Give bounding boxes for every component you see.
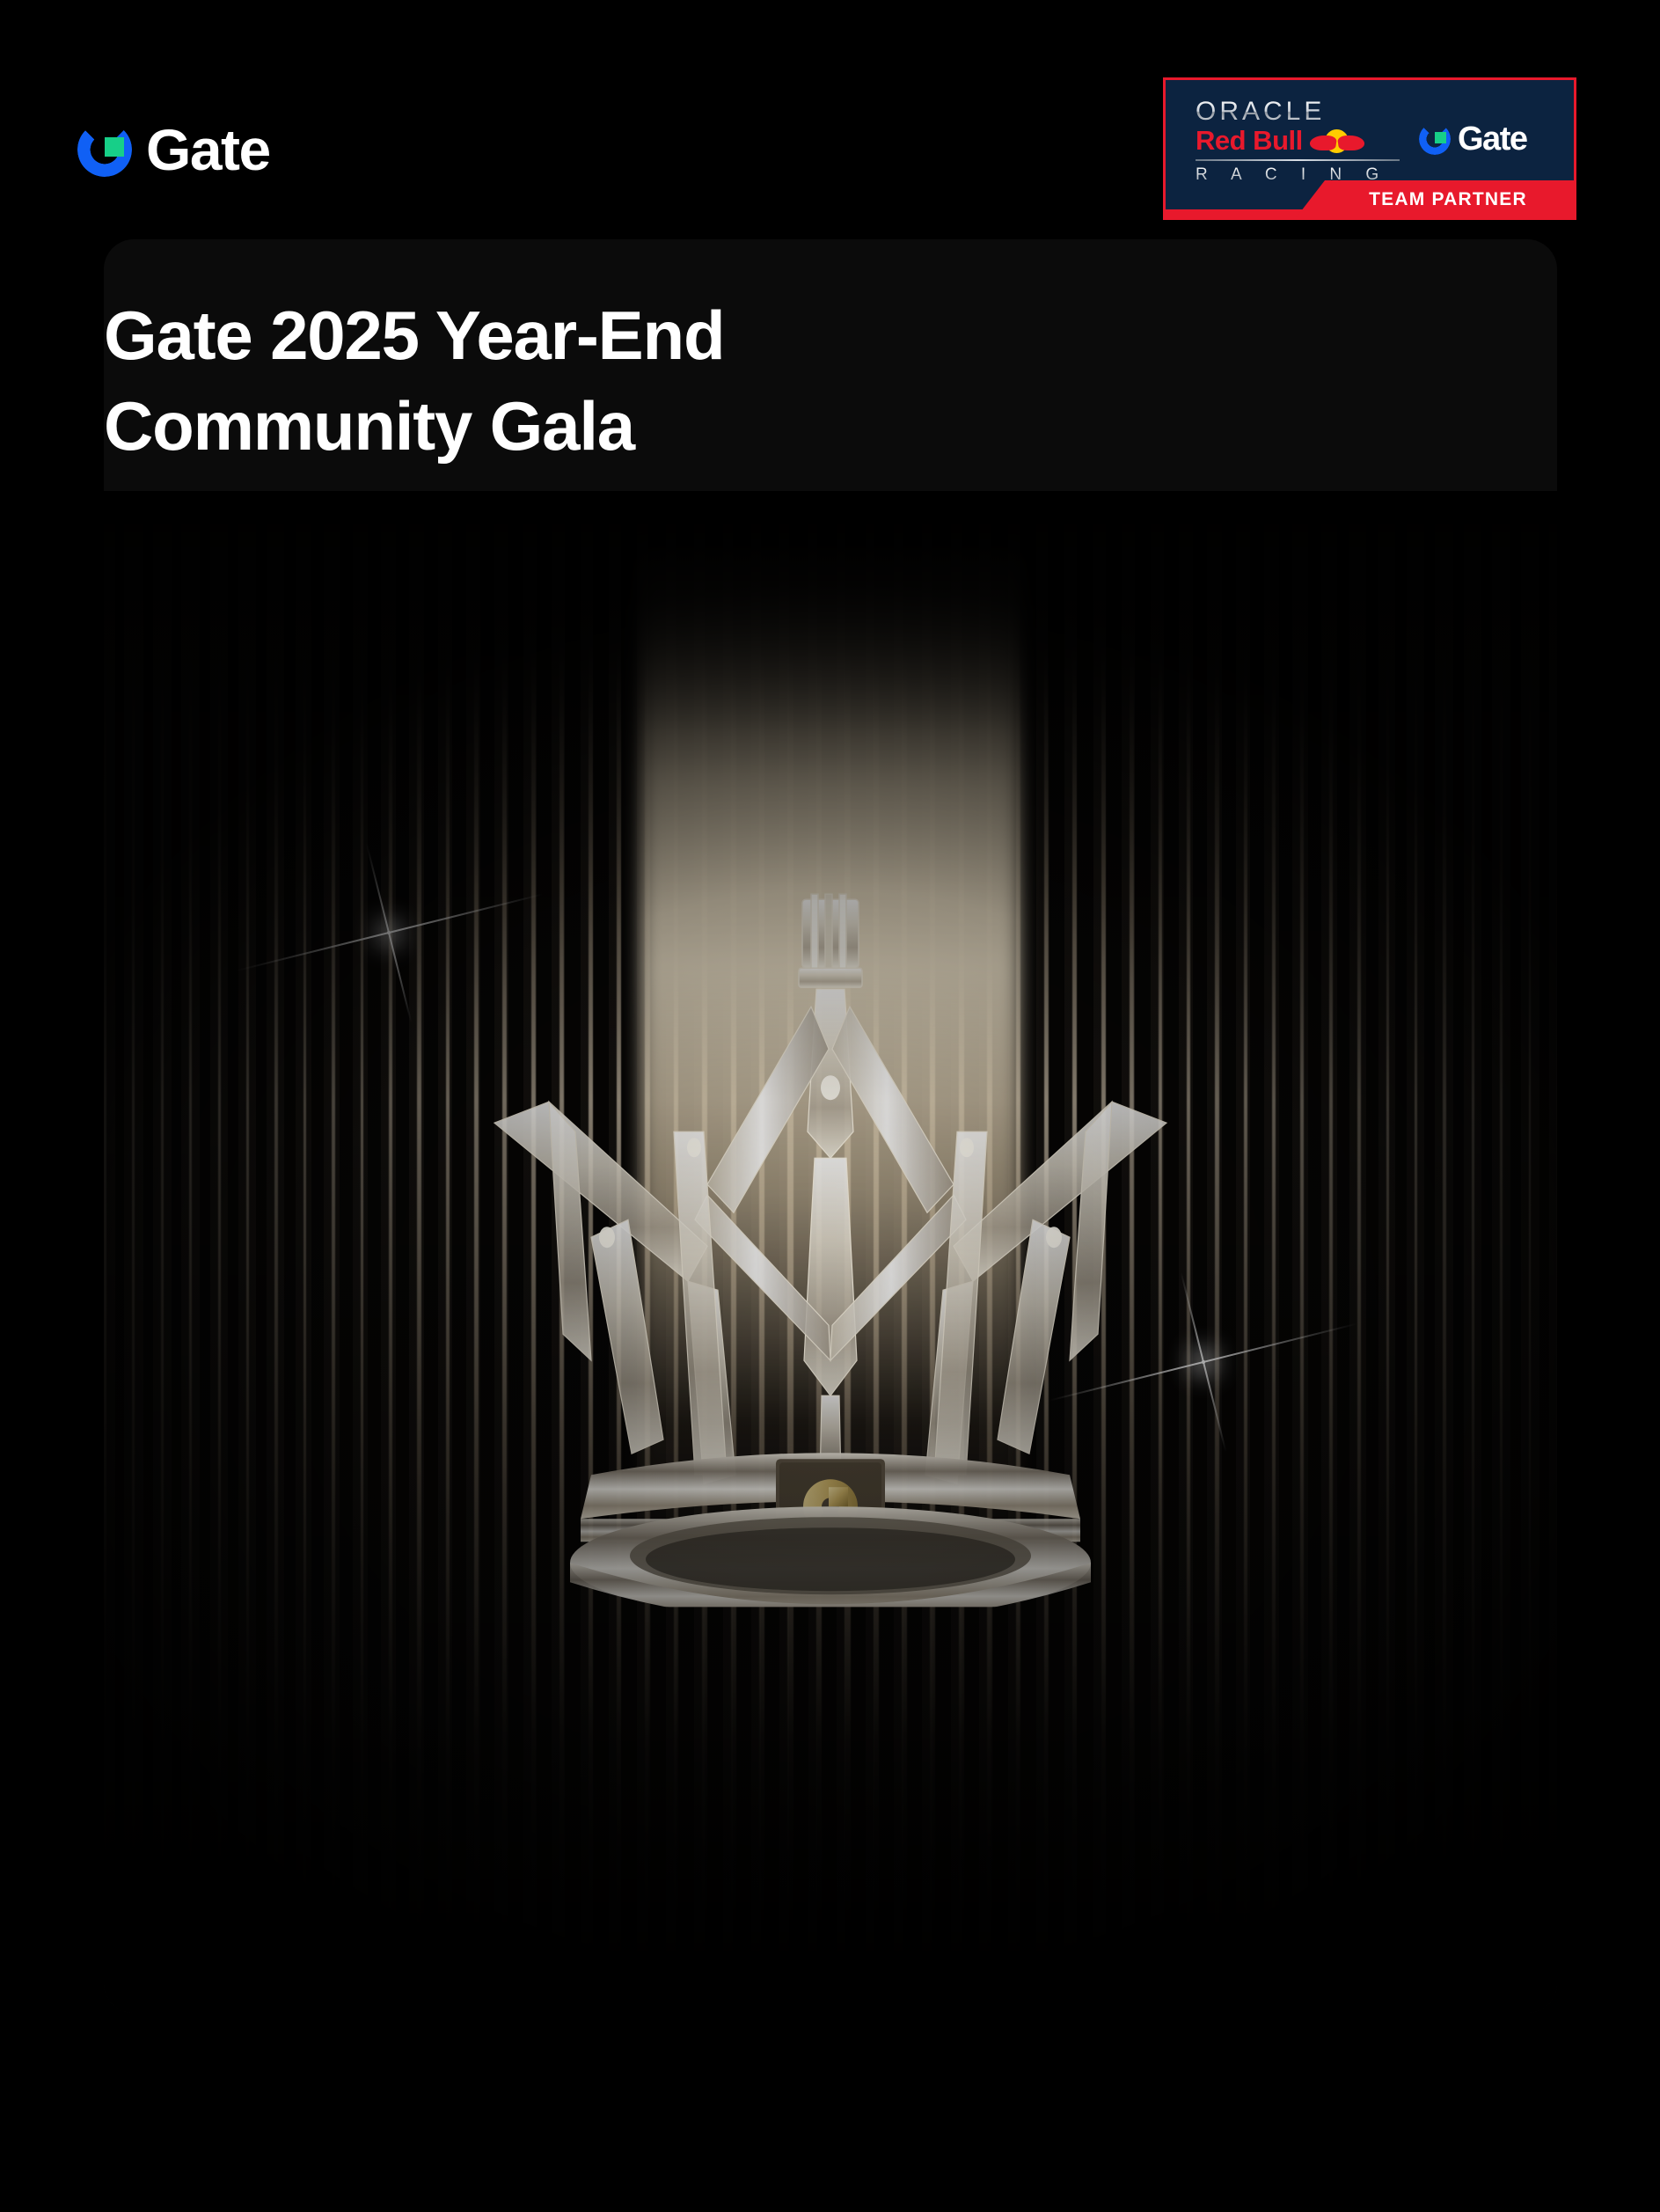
divider-rule xyxy=(1196,159,1400,161)
oracle-red-bull-racing-partner-badge: ORACLE Red Bull R A C I N G Gat xyxy=(1163,77,1576,220)
brand-logo[interactable]: Gate xyxy=(77,121,270,179)
gate-logo-icon xyxy=(1419,123,1451,155)
badge-gate-logo: Gate xyxy=(1419,122,1526,156)
team-partner-band: TEAM PARTNER xyxy=(1295,180,1576,219)
team-partner-label: TEAM PARTNER xyxy=(1344,189,1527,210)
red-bull-right-bull-shape xyxy=(1337,136,1365,150)
oracle-label: ORACLE xyxy=(1196,98,1400,126)
brand-wordmark: Gate xyxy=(146,121,270,179)
gate-logo-square xyxy=(1435,132,1446,143)
event-card: Gate 2025 Year-End Community Gala Top St… xyxy=(104,239,1557,2013)
badge-gate-wordmark: Gate xyxy=(1458,122,1526,156)
gate-logo-square xyxy=(105,137,124,157)
page-header: Gate ORACLE Red Bull R A C I N G xyxy=(0,0,1660,238)
red-bull-icon xyxy=(1310,128,1364,153)
page-root: Gate ORACLE Red Bull R A C I N G xyxy=(0,0,1660,2212)
red-bull-racing-lockup: ORACLE Red Bull R A C I N G xyxy=(1196,98,1400,185)
crown-trophy-image xyxy=(104,491,1557,2013)
red-bull-row: Red Bull xyxy=(1196,127,1400,156)
red-bull-label: Red Bull xyxy=(1196,127,1303,156)
image-vignette xyxy=(104,491,1557,2013)
page-title: Gate 2025 Year-End Community Gala xyxy=(104,290,992,472)
gate-logo-icon xyxy=(77,122,132,177)
red-bull-left-bull-shape xyxy=(1309,136,1337,150)
